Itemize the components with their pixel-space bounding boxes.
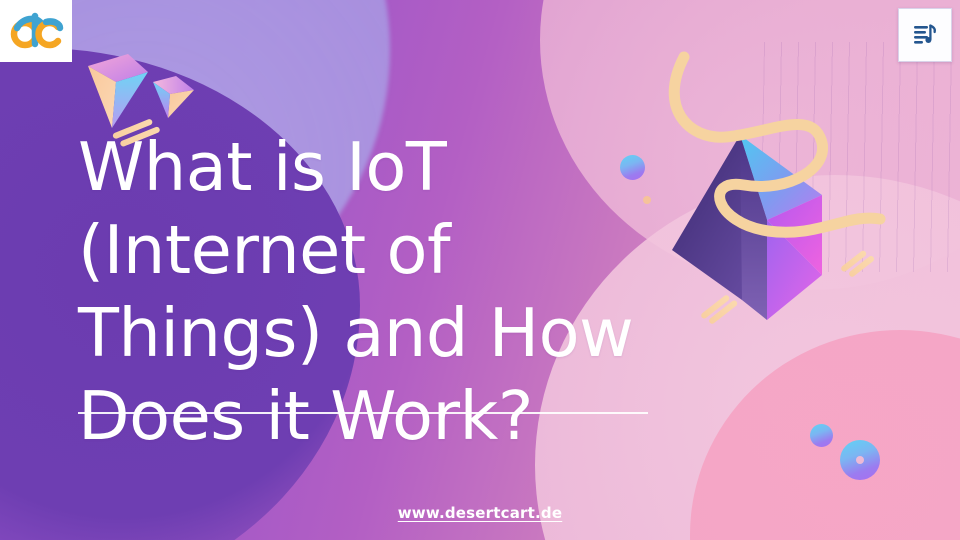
triangle-decoration-icon (150, 74, 196, 120)
music-playlist-icon (911, 21, 939, 49)
desertcart-logo-icon (8, 11, 64, 51)
site-url-link[interactable]: www.desertcart.de (0, 504, 960, 522)
music-badge-button[interactable] (898, 8, 952, 62)
title-underline-rule (78, 412, 648, 414)
slide-canvas: What is IoT (Internet of Things) and How… (0, 0, 960, 540)
brand-logo-card[interactable] (0, 0, 72, 62)
sphere-decoration (840, 440, 880, 480)
sphere-decoration (810, 424, 833, 447)
page-title: What is IoT (Internet of Things) and How… (78, 126, 698, 458)
triangle-decoration-icon (82, 52, 154, 130)
